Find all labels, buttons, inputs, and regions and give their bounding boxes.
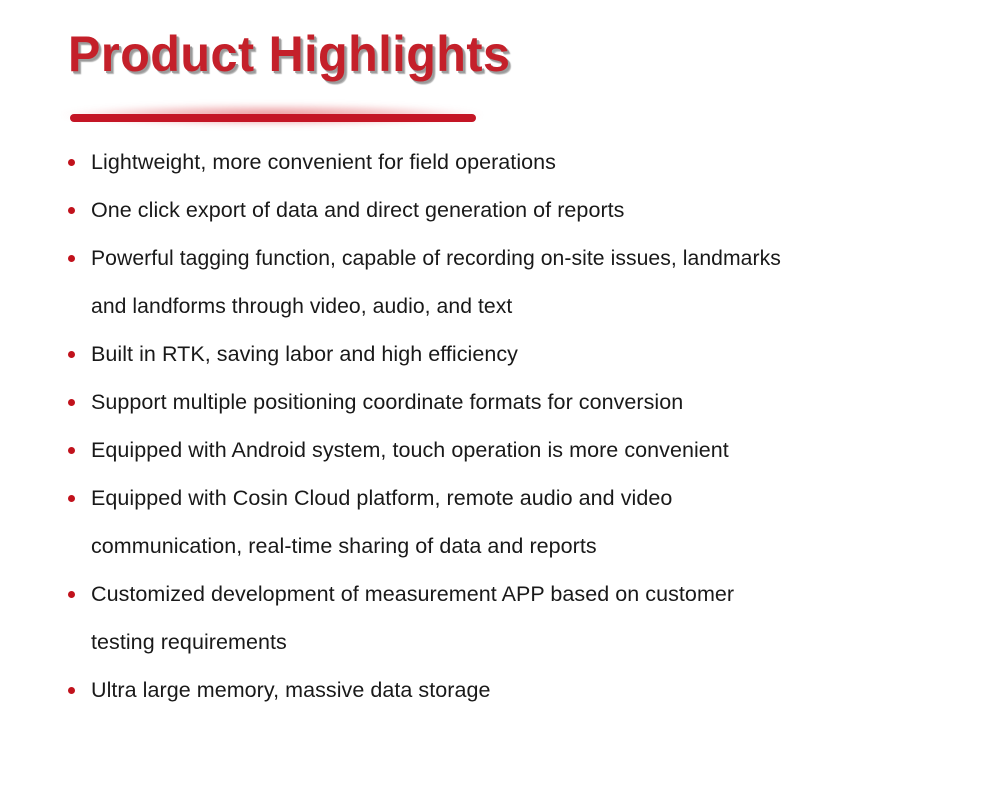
- list-item-label: Equipped with Android system, touch oper…: [91, 426, 962, 474]
- bullet-dot-icon: [68, 255, 75, 262]
- list-item-label: Built in RTK, saving labor and high effi…: [91, 330, 962, 378]
- list-item: Equipped with Android system, touch oper…: [62, 426, 962, 474]
- list-item: Powerful tagging function, capable of re…: [62, 234, 962, 330]
- bullet-dot-icon: [68, 159, 75, 166]
- product-highlights-list: Lightweight, more convenient for field o…: [62, 138, 962, 714]
- bullet-dot-icon: [68, 591, 75, 598]
- list-item-label: One click export of data and direct gene…: [91, 186, 962, 234]
- bullet-dot-icon: [68, 351, 75, 358]
- list-item-label: Ultra large memory, massive data storage: [91, 666, 962, 714]
- bullet-dot-icon: [68, 207, 75, 214]
- title-underline-rule: [70, 114, 476, 122]
- list-item: Support multiple positioning coordinate …: [62, 378, 962, 426]
- list-item: Built in RTK, saving labor and high effi…: [62, 330, 962, 378]
- bullet-dot-icon: [68, 447, 75, 454]
- list-item-label: Customized development of measurement AP…: [91, 570, 962, 666]
- page-title: Product Highlights: [68, 26, 511, 82]
- list-item-label: Equipped with Cosin Cloud platform, remo…: [91, 474, 962, 570]
- list-item-label: Powerful tagging function, capable of re…: [91, 234, 781, 330]
- list-item: Ultra large memory, massive data storage: [62, 666, 962, 714]
- list-item: Equipped with Cosin Cloud platform, remo…: [62, 474, 962, 570]
- list-item-label: Lightweight, more convenient for field o…: [91, 138, 962, 186]
- bullet-dot-icon: [68, 687, 75, 694]
- bullet-dot-icon: [68, 495, 75, 502]
- slide-canvas: Product Highlights Lightweight, more con…: [0, 0, 1000, 800]
- list-item-label: Support multiple positioning coordinate …: [91, 378, 962, 426]
- slide-title-block: Product Highlights: [62, 26, 542, 108]
- list-item: One click export of data and direct gene…: [62, 186, 962, 234]
- bullet-dot-icon: [68, 399, 75, 406]
- list-item: Customized development of measurement AP…: [62, 570, 962, 666]
- list-item: Lightweight, more convenient for field o…: [62, 138, 962, 186]
